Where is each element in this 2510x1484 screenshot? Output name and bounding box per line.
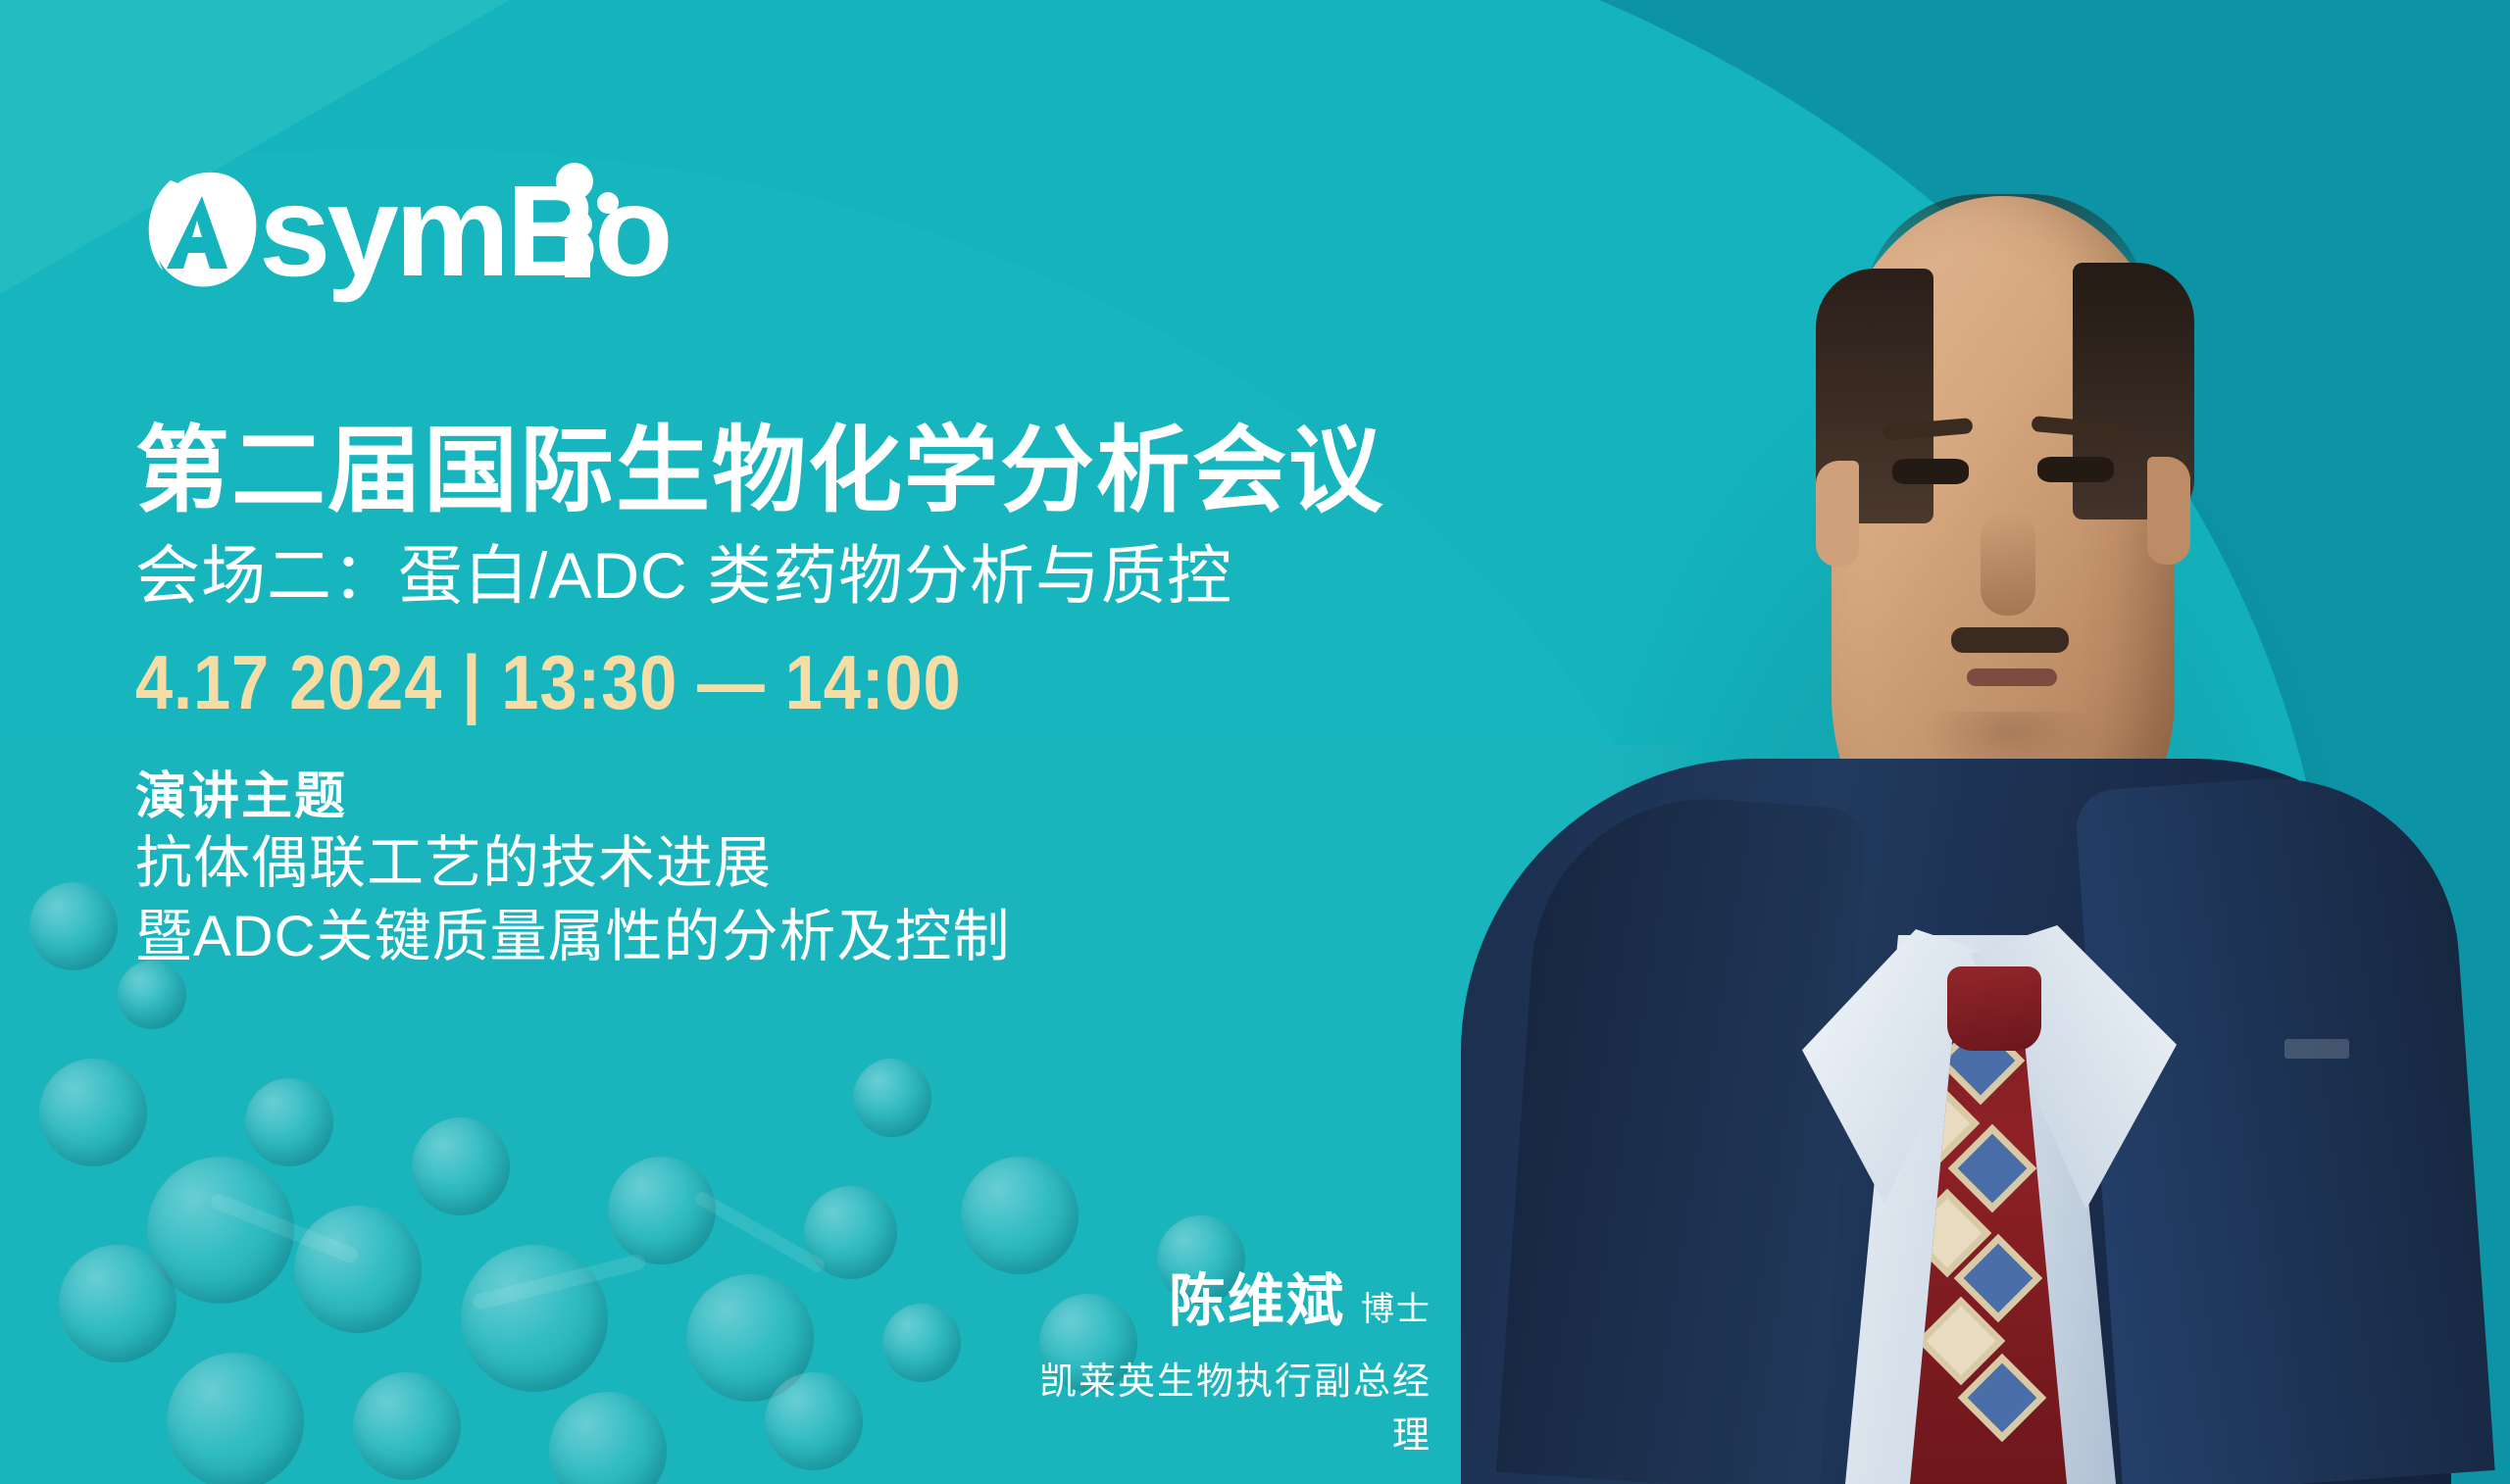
event-datetime: 4.17 2024 | 13:30 — 14:00	[135, 641, 1481, 725]
portrait-eye-right	[2037, 457, 2114, 482]
portrait-ear-right	[2147, 457, 2190, 565]
portrait-mouth	[1967, 668, 2057, 686]
speaker-name: 陈维斌	[1169, 1255, 1345, 1337]
svg-text:symB: symB	[259, 160, 596, 303]
portrait-lapel-right	[2074, 767, 2494, 1484]
portrait-lapel-badge	[2284, 1039, 2349, 1059]
portrait-ear-left	[1816, 461, 1859, 567]
speaker-portrait	[1373, 0, 2510, 1484]
conference-poster: symB o AsymBio 第二届国际生物化学分析会议 会场二：蛋白/ADC …	[0, 0, 2510, 1484]
portrait-moustache	[1951, 627, 2069, 653]
asymbio-wordmark: symB o AsymBio	[259, 160, 720, 307]
svg-text:o: o	[594, 160, 670, 303]
portrait-tie-knot	[1947, 966, 2041, 1051]
portrait-lapel-left	[1496, 787, 1867, 1484]
speaker-credit: 陈维斌 博士 凯莱英生物执行副总经理	[1020, 1255, 1431, 1459]
portrait-nose	[1981, 510, 2035, 616]
asymbio-logo[interactable]: symB o AsymBio	[137, 165, 728, 294]
speaker-name-row: 陈维斌 博士	[1020, 1255, 1431, 1337]
asymbio-leaf-a-mark	[137, 165, 267, 294]
speaker-job-title: 凯莱英生物执行副总经理	[1020, 1351, 1431, 1459]
portrait-eye-left	[1892, 459, 1969, 484]
